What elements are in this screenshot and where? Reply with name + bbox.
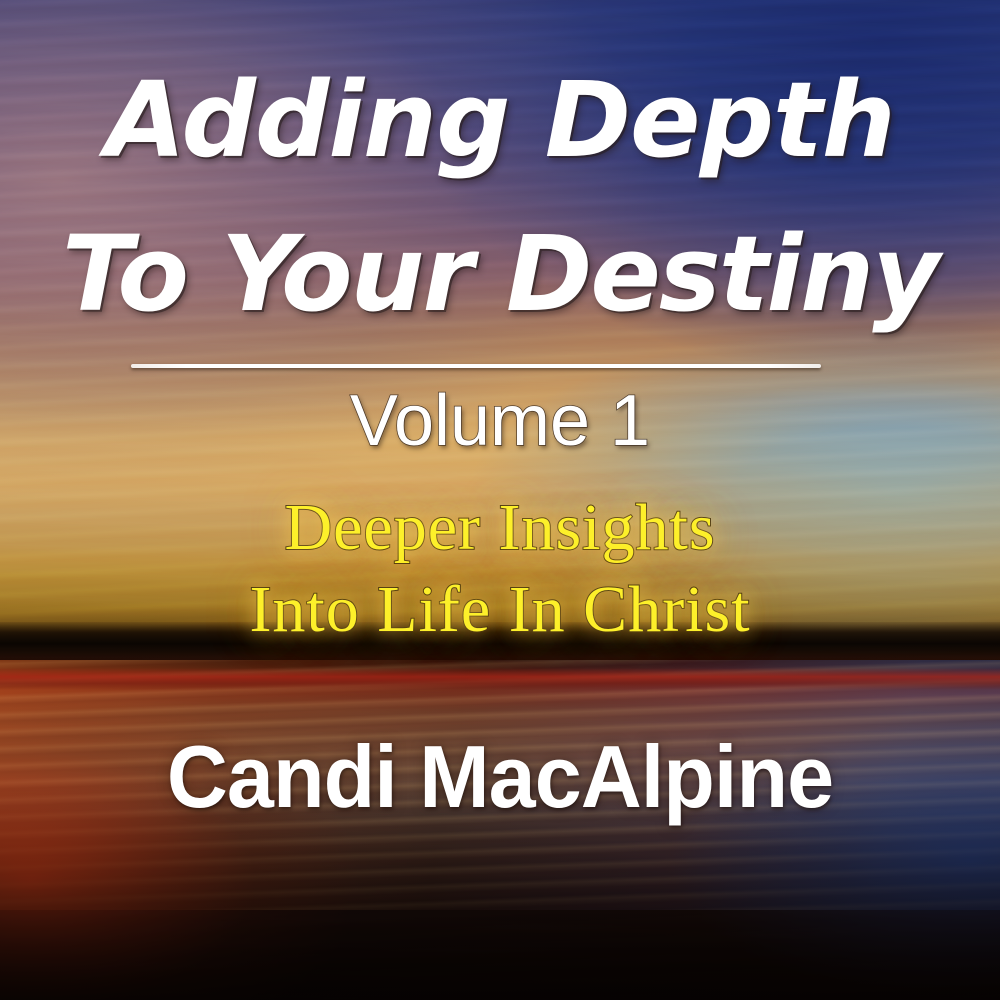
author-name: Candi MacAlpine — [20, 726, 980, 828]
subtitle-line-2: Into Life In Christ — [0, 572, 1000, 648]
book-cover: Adding Depth To Your Destiny Volume 1 De… — [0, 0, 1000, 1000]
title-line-1: Adding Depth — [0, 68, 1000, 172]
subtitle-line-1: Deeper Insights — [0, 490, 1000, 566]
volume-label: Volume 1 — [0, 380, 1000, 462]
title-divider-rule — [131, 364, 821, 368]
cover-content: Adding Depth To Your Destiny Volume 1 De… — [0, 0, 1000, 1000]
title-line-2: To Your Destiny — [0, 222, 1000, 326]
